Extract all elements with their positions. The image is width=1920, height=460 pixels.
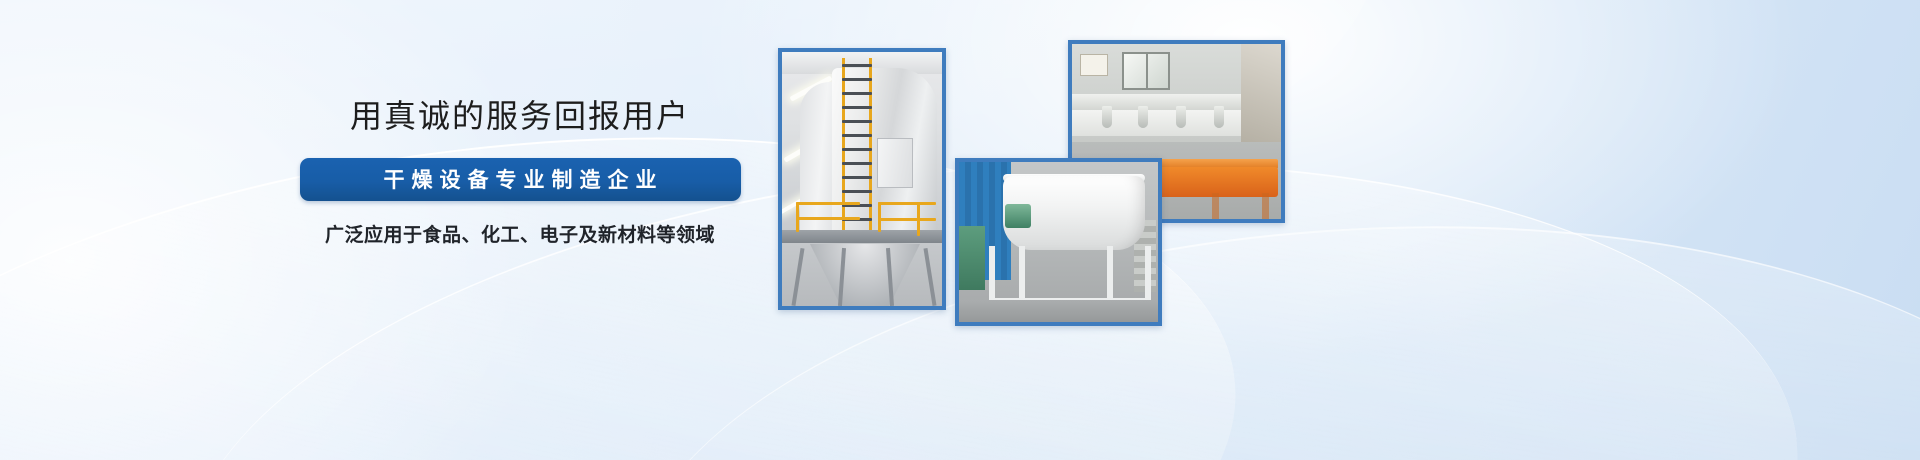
handrail-post — [917, 202, 920, 236]
handrail-top — [878, 202, 936, 205]
workshop-window — [1122, 52, 1170, 90]
photo-ribbon-mixer-image — [959, 162, 1158, 322]
tower-inspection-door — [877, 138, 913, 188]
spray-nozzle — [1138, 106, 1148, 128]
frame-leg — [1212, 193, 1219, 219]
support-legs — [792, 248, 934, 306]
photo-ribbon-mixer[interactable] — [955, 158, 1162, 326]
mixer-support-frame — [989, 246, 1151, 304]
drive-motor — [1005, 204, 1031, 228]
handrail-mid — [878, 218, 936, 221]
green-panel — [959, 226, 985, 290]
handrail-mid — [796, 217, 860, 220]
spray-nozzle — [1102, 106, 1112, 128]
spray-nozzle — [1176, 106, 1186, 128]
banner-headline: 用真诚的服务回报用户 — [240, 100, 800, 132]
banner-tagline-pill[interactable]: 干燥设备专业制造企业 — [300, 158, 741, 201]
safety-ladder — [842, 58, 872, 238]
photo-spray-dryer-tower-image — [782, 52, 942, 306]
handrail-post — [878, 202, 881, 232]
photo-spray-dryer-tower[interactable] — [778, 48, 946, 310]
promo-banner: 用真诚的服务回报用户 干燥设备专业制造企业 广泛应用于食品、化工、电子及新材料等… — [0, 0, 1920, 460]
wall-notice-board — [1080, 54, 1108, 76]
handrail-top — [796, 202, 860, 205]
frame-leg — [1262, 193, 1269, 219]
banner-text-block: 用真诚的服务回报用户 干燥设备专业制造企业 广泛应用于食品、化工、电子及新材料等… — [240, 100, 800, 245]
banner-subtitle: 广泛应用于食品、化工、电子及新材料等领域 — [240, 226, 800, 245]
spray-nozzle — [1214, 106, 1224, 128]
workshop-floor — [959, 300, 1158, 322]
